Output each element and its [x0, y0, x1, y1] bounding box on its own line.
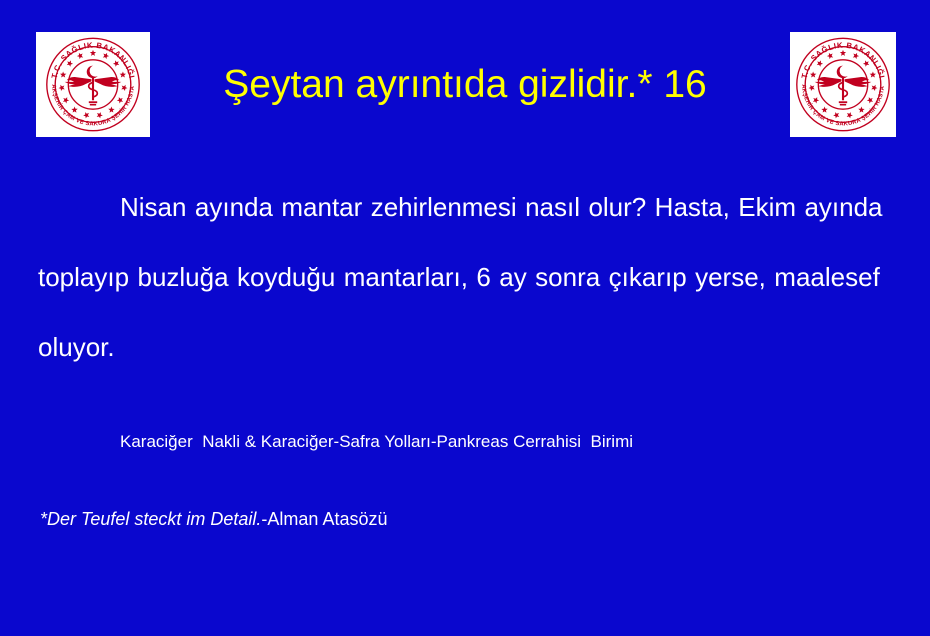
- slide-body-paragraph: Nisan ayında mantar zehirlenmesi nasıl o…: [38, 172, 898, 382]
- department-unit-line: Karaciğer Nakli & Karaciğer-Safra Yollar…: [120, 430, 633, 454]
- footnote-attribution: -Alman Atasözü: [261, 509, 387, 529]
- slide-title: Şeytan ayrıntıda gizlidir.* 16: [0, 61, 930, 109]
- footnote-german-proverb: *Der Teufel steckt im Detail.: [40, 509, 261, 529]
- footnote: *Der Teufel steckt im Detail.-Alman Atas…: [40, 506, 387, 532]
- presentation-slide: T.C. SAĞLIK BAKANLIĞI BAŞAKŞEHİR ÇAM VE …: [0, 0, 930, 636]
